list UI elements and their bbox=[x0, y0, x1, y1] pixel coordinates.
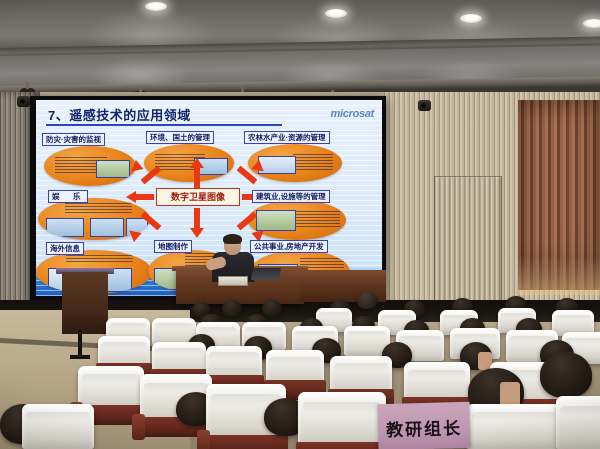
seat bbox=[22, 404, 94, 449]
node-ellipse-2 bbox=[144, 144, 234, 182]
node-text-lines bbox=[293, 209, 340, 227]
node-label-8: 公共事业,房地产开发 bbox=[250, 240, 328, 253]
node-label-1: 防灾·灾害的监视 bbox=[42, 133, 105, 146]
seat-armrest bbox=[197, 430, 210, 449]
seat-armrest bbox=[132, 414, 145, 440]
node-ellipse-1 bbox=[44, 146, 136, 186]
seat-cover bbox=[22, 404, 94, 449]
mic-stand-leg bbox=[78, 330, 82, 358]
seat bbox=[98, 336, 150, 370]
arrow-down bbox=[194, 208, 200, 230]
seat-cover bbox=[466, 404, 562, 449]
seat bbox=[404, 362, 470, 404]
arrow-left bbox=[134, 194, 154, 200]
ceiling-downlight-3 bbox=[460, 14, 482, 23]
slide-center-label: 数字卫星图像 bbox=[156, 188, 240, 206]
ceiling-downlight-2 bbox=[325, 9, 347, 18]
audience-head bbox=[222, 300, 242, 317]
seat-wood-back bbox=[296, 442, 388, 449]
seat-cover bbox=[298, 392, 386, 449]
seat bbox=[330, 356, 392, 396]
slide-title: 7、遥感技术的应用领域 bbox=[48, 105, 191, 124]
ceiling-downlight-1 bbox=[145, 2, 167, 11]
node-label-2: 环境、国土的管理 bbox=[146, 131, 214, 144]
wall-camera-icon bbox=[17, 96, 30, 107]
node-thumbnail bbox=[90, 218, 124, 237]
arrow-up bbox=[194, 166, 200, 190]
node-text-lines bbox=[293, 152, 332, 169]
node-label-4: 娱 乐 bbox=[48, 190, 88, 203]
curtain-floor-glow bbox=[518, 255, 600, 295]
node-thumbnail bbox=[46, 218, 84, 237]
node-label-3: 农林水产业·资源的管理 bbox=[244, 131, 330, 144]
lectern bbox=[62, 272, 108, 334]
role-sign: 教研组长 bbox=[377, 402, 470, 449]
seat bbox=[266, 350, 324, 387]
node-text-lines bbox=[65, 202, 132, 213]
seat bbox=[152, 342, 206, 376]
laptop-icon bbox=[251, 268, 281, 280]
node-label-5: 建筑业,设施等的管理 bbox=[252, 190, 330, 203]
node-label-7: 地图制作 bbox=[154, 240, 192, 253]
audience-head bbox=[262, 300, 282, 317]
presenter-hair bbox=[223, 234, 242, 244]
seat-foreground bbox=[466, 404, 562, 449]
arrow-down-head bbox=[190, 228, 204, 238]
slide-title-underline bbox=[46, 124, 282, 126]
seat bbox=[298, 392, 386, 449]
seat bbox=[206, 346, 262, 382]
ceiling-downlight-4 bbox=[583, 19, 600, 28]
arrow-left-head bbox=[126, 191, 136, 203]
lecture-hall-photo: 7、遥感技术的应用领域 microsat bbox=[0, 0, 600, 449]
audience-head-foreground bbox=[540, 352, 592, 398]
microsat-logo: microsat bbox=[331, 108, 374, 120]
seat-foreground bbox=[556, 396, 600, 449]
seat-wood-back bbox=[204, 435, 288, 449]
node-label-6: 海外信息 bbox=[46, 242, 84, 255]
audience-head bbox=[357, 292, 377, 309]
node-thumbnail bbox=[96, 160, 130, 178]
mic-stand-base bbox=[70, 355, 90, 359]
role-sign-text: 教研组长 bbox=[386, 414, 463, 441]
wall-speaker-left-icon bbox=[418, 100, 431, 111]
arrow-up-head bbox=[190, 158, 204, 168]
seat-cover bbox=[556, 396, 600, 449]
presenter-nameplate bbox=[218, 276, 248, 286]
